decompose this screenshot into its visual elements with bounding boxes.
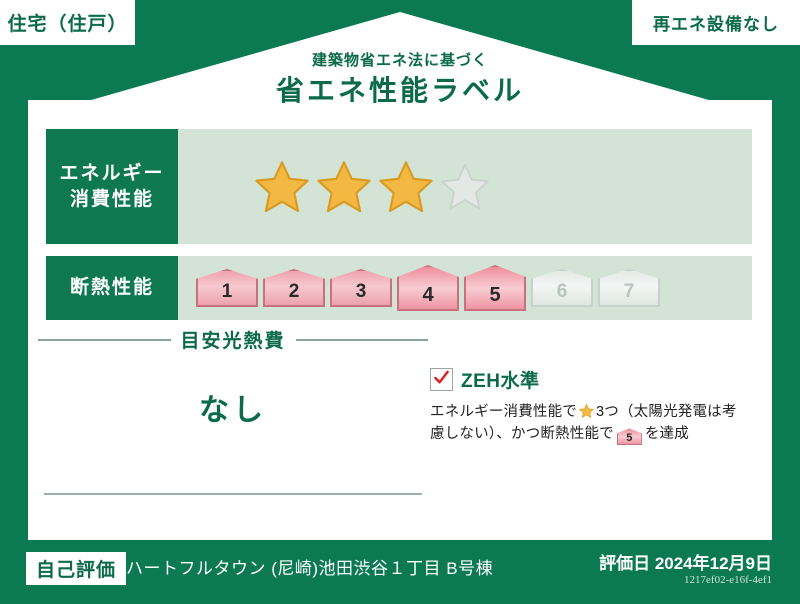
star-icon-empty [439, 162, 491, 212]
star-icon-inline [578, 403, 595, 419]
zeh-description: エネルギー消費性能で 3つ（太陽光発電は考慮しない）、かつ断熱性能で 5 を達成 [430, 401, 750, 446]
label-title-block: 建築物省エネ法に基づく 省エネ性能ラベル [0, 52, 800, 108]
insulation-level-chip-5: 5 [464, 265, 526, 311]
utility-cost-divider [44, 493, 422, 495]
energy-key-line-1: エネルギー [59, 161, 164, 186]
zeh-desc-part-3: を達成 [645, 426, 689, 442]
insulation-level-chip-3: 3 [330, 269, 392, 307]
insulation-performance-row: 断熱性能 1234567 [46, 256, 752, 320]
utility-cost-value: なし [38, 385, 428, 429]
heading-rule-right [296, 339, 429, 341]
insulation-chip-inline-label: 5 [617, 428, 642, 449]
self-evaluation-badge: 自己評価 [26, 552, 126, 585]
insulation-level-label: 7 [624, 281, 635, 303]
badge-renewable-energy: 再エネ設備なし [632, 0, 800, 45]
insulation-level-chip-7: 7 [598, 269, 660, 307]
insulation-level-label: 3 [356, 281, 367, 303]
insulation-level-label: 2 [289, 281, 300, 303]
insulation-chip-inline: 5 [617, 428, 642, 445]
utility-cost-heading-text: 目安光熱費 [181, 326, 286, 353]
energy-performance-label: 住宅（住戸） 再エネ設備なし 建築物省エネ法に基づく 省エネ性能ラベル エネルギ… [0, 0, 800, 604]
energy-performance-key: エネルギー 消費性能 [46, 129, 178, 244]
label-footer: 自己評価 ハートフルタウン (尼崎)池田渋谷１丁目 B号棟 評価日 2024年1… [0, 540, 800, 604]
energy-performance-row: エネルギー 消費性能 [46, 129, 752, 244]
evaluation-id: 1217ef02-e16f-4ef1 [684, 574, 772, 586]
energy-star-rating [178, 129, 752, 244]
insulation-level-label: 1 [222, 281, 233, 303]
property-name: ハートフルタウン (尼崎)池田渋谷１丁目 B号棟 [126, 554, 493, 579]
title-subtitle: 建築物省エネ法に基づく [0, 52, 800, 70]
evaluation-date: 評価日 2024年12月9日 [599, 549, 772, 574]
insulation-level-chip-6: 6 [531, 269, 593, 307]
zeh-checkbox[interactable] [430, 368, 453, 391]
zeh-heading-row: ZEH水準 [430, 366, 750, 393]
zeh-title: ZEH水準 [461, 366, 540, 393]
star-icon-filled [377, 159, 435, 215]
insulation-level-scale: 1234567 [178, 256, 752, 320]
zeh-standard-block: ZEH水準 エネルギー消費性能で 3つ（太陽光発電は考慮しない）、かつ断熱性能で… [430, 366, 750, 446]
insulation-level-label: 4 [422, 284, 433, 307]
zeh-desc-part-1: エネルギー消費性能で [430, 404, 577, 420]
check-icon [434, 370, 449, 386]
utility-cost-heading: 目安光熱費 [38, 326, 428, 353]
energy-key-line-2: 消費性能 [70, 187, 154, 212]
title-main: 省エネ性能ラベル [0, 74, 800, 108]
heading-rule-left [38, 339, 171, 341]
star-icon-filled [315, 159, 373, 215]
insulation-level-chip-4: 4 [397, 265, 459, 311]
insulation-performance-key: 断熱性能 [46, 256, 178, 320]
insulation-level-chip-2: 2 [263, 269, 325, 307]
badge-building-type: 住宅（住戸） [0, 0, 135, 45]
insulation-level-chip-1: 1 [196, 269, 258, 307]
insulation-level-label: 5 [489, 284, 500, 307]
insulation-level-label: 6 [557, 281, 568, 303]
star-icon-filled [253, 159, 311, 215]
